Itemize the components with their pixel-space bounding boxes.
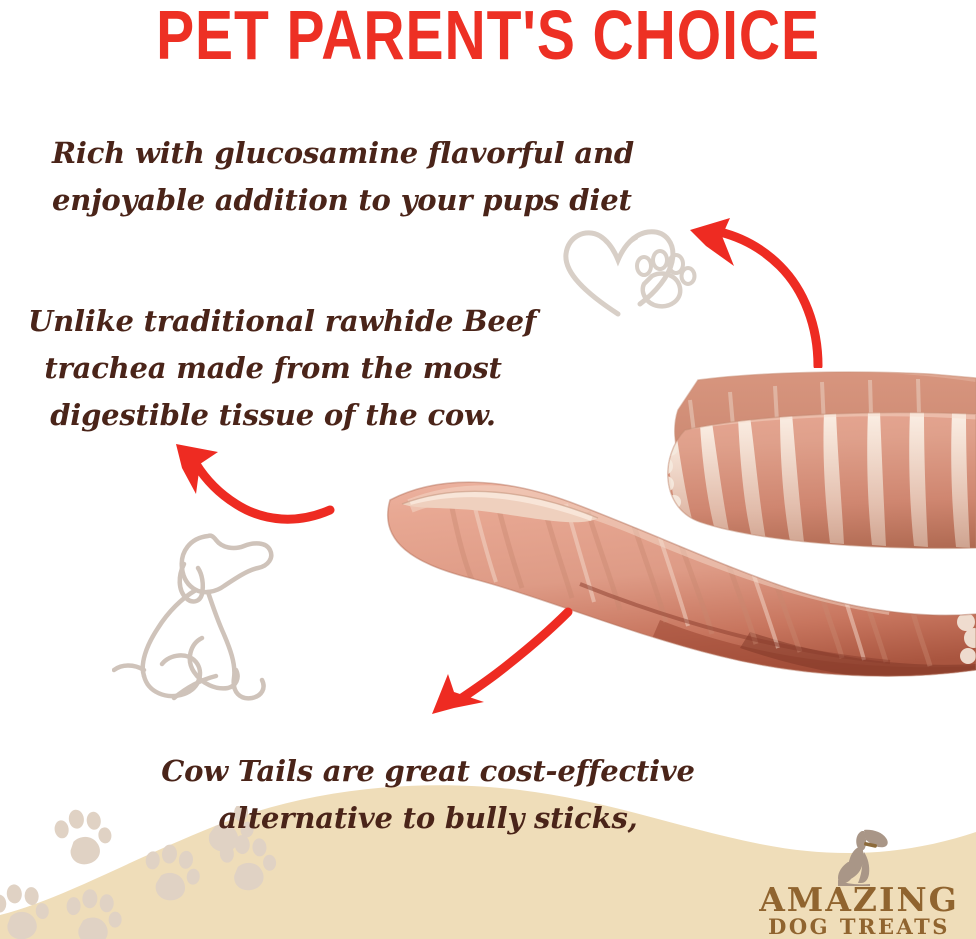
callout-rawhide-alternative: Unlike traditional rawhide Beef trachea … <box>28 298 518 439</box>
logo-brand-name: AMAZING <box>742 884 976 915</box>
callout-line: Unlike traditional rawhide Beef <box>28 298 518 345</box>
arrow-to-product-icon <box>418 598 608 720</box>
arrow-to-heart-icon <box>668 208 838 368</box>
product-infographic: PET PARENT'S CHOICE <box>0 0 976 939</box>
page-title: PET PARENT'S CHOICE <box>39 2 937 71</box>
callout-cost-effective: Cow Tails are great cost-effective alter… <box>150 748 706 842</box>
arrow-to-text-icon <box>168 438 338 534</box>
callout-line: alternative to bully sticks, <box>150 795 706 842</box>
logo-brand-tagline: DOG TREATS <box>742 916 976 937</box>
callout-line: trachea made from the most <box>28 345 518 392</box>
sitting-dog-silhouette-icon <box>824 826 894 886</box>
callout-line: Cow Tails are great cost-effective <box>150 748 706 795</box>
callout-glucosamine: Rich with glucosamine flavorful and enjo… <box>52 130 634 224</box>
brand-logo: AMAZING DOG TREATS <box>742 826 976 939</box>
callout-line: Rich with glucosamine flavorful and <box>52 130 634 177</box>
callout-line: enjoyable addition to your pups diet <box>52 177 634 224</box>
callout-line: digestible tissue of the cow. <box>28 392 518 439</box>
dog-outline-icon <box>112 512 312 710</box>
